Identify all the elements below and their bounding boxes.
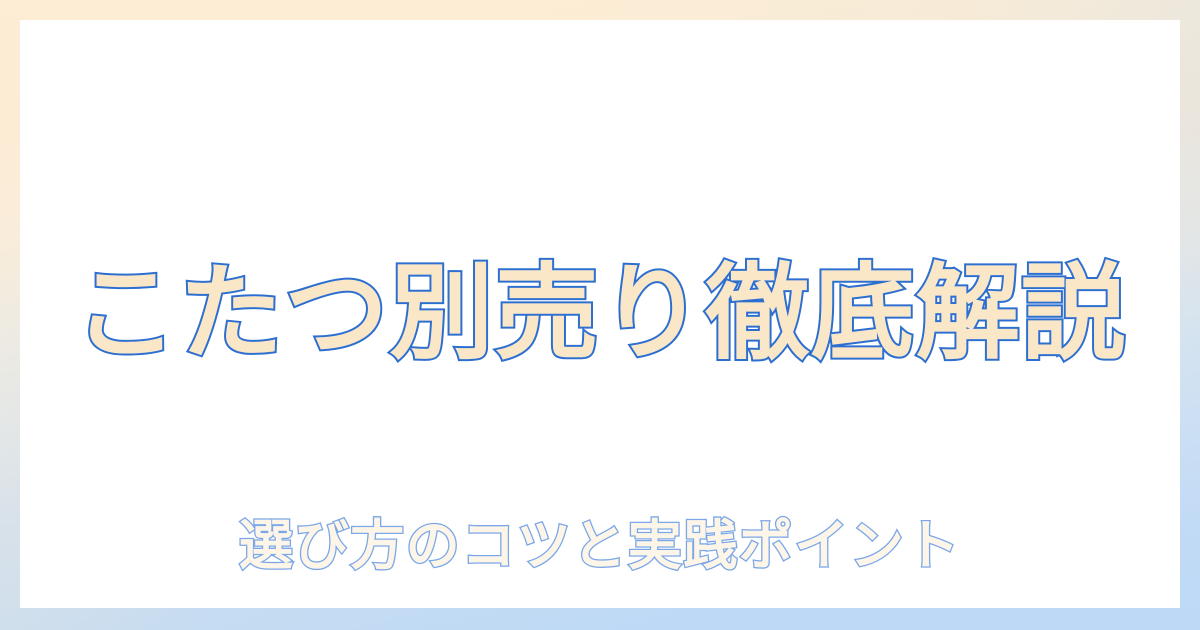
subheadline-container: 選び方のコツと実践ポイント: [20, 472, 1180, 608]
title-card-canvas: こたつ別売り徹底解説 選び方のコツと実践ポイント: [0, 0, 1200, 630]
page-subtitle: 選び方のコツと実践ポイント: [239, 516, 961, 575]
headline-container: こたつ別売り徹底解説: [20, 188, 1180, 438]
page-title: こたつ別売り徹底解説: [74, 258, 1126, 368]
white-content-card: こたつ別売り徹底解説 選び方のコツと実践ポイント: [20, 20, 1180, 608]
